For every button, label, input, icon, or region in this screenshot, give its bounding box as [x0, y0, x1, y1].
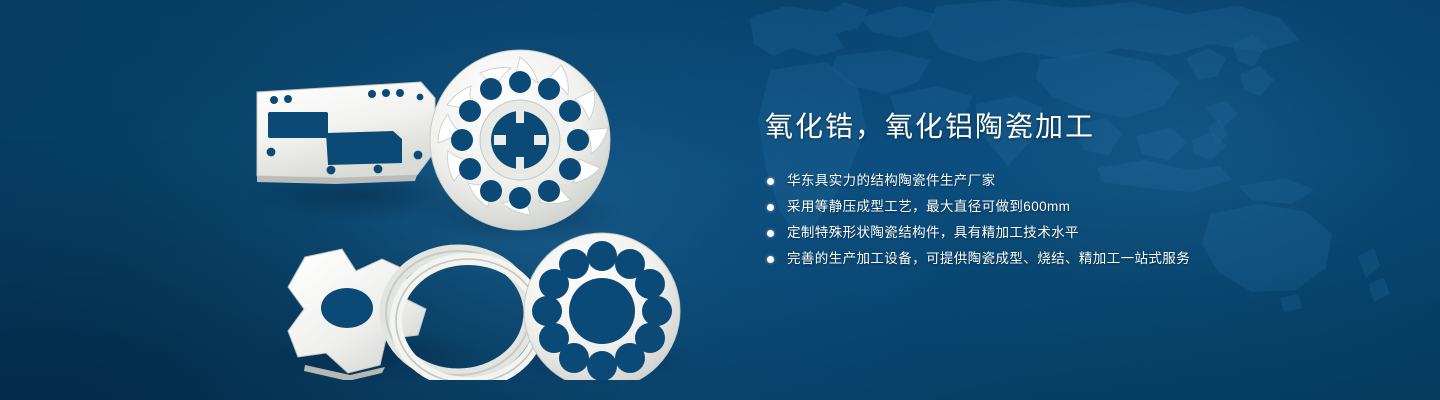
list-item: 采用等静压成型工艺，最大直径可做到600mm: [765, 194, 1385, 220]
list-item-label: 采用等静压成型工艺，最大直径可做到600mm: [787, 199, 1070, 214]
dot-bullet-icon: [767, 230, 774, 237]
list-item-label: 华东具实力的结构陶瓷件生产厂家: [787, 173, 996, 188]
hero-banner: 氧化锆，氧化铝陶瓷加工 华东具实力的结构陶瓷件生产厂家 采用等静压成型工艺，最大…: [0, 0, 1440, 400]
banner-copy: 氧化锆，氧化铝陶瓷加工 华东具实力的结构陶瓷件生产厂家 采用等静压成型工艺，最大…: [765, 108, 1385, 272]
page-title: 氧化锆，氧化铝陶瓷加工: [765, 108, 1385, 146]
list-item-label: 完善的生产加工设备，可提供陶瓷成型、烧结、精加工一站式服务: [787, 251, 1190, 266]
list-item: 定制特殊形状陶瓷结构件，具有精加工技术水平: [765, 220, 1385, 246]
list-item: 完善的生产加工设备，可提供陶瓷成型、烧结、精加工一站式服务: [765, 246, 1385, 272]
list-item: 华东具实力的结构陶瓷件生产厂家: [765, 168, 1385, 194]
dot-bullet-icon: [767, 204, 774, 211]
list-item-label: 定制特殊形状陶瓷结构件，具有精加工技术水平: [787, 225, 1079, 240]
dot-bullet-icon: [767, 256, 774, 263]
ceramic-products-image: [230, 35, 720, 380]
dot-bullet-icon: [767, 178, 774, 185]
feature-list: 华东具实力的结构陶瓷件生产厂家 采用等静压成型工艺，最大直径可做到600mm 定…: [765, 168, 1385, 272]
